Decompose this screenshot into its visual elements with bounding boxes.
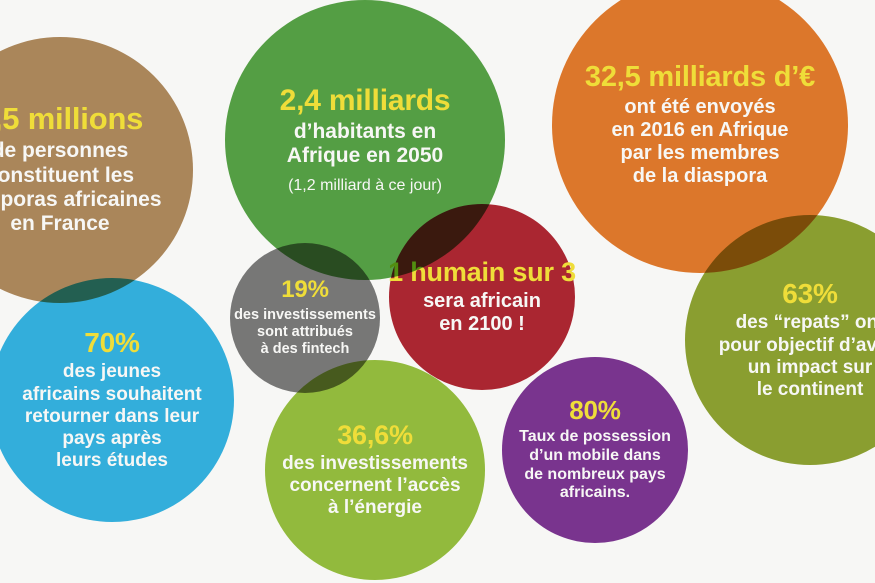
bubble-jeunes-retour[interactable]: 70% des jeunes africains souhaitent reto… bbox=[0, 278, 234, 522]
bubble-headline: 19% bbox=[281, 278, 328, 303]
bubble-mobile[interactable]: 80% Taux de possession d’un mobile dans … bbox=[502, 357, 688, 543]
bubble-headline: 80% bbox=[569, 397, 620, 424]
bubble-headline: 70% bbox=[84, 328, 139, 357]
bubble-humain-sur-3[interactable]: 1 humain sur 3 sera africain en 2100 ! bbox=[389, 204, 575, 390]
bubble-body: des investissements sont attribués à des… bbox=[234, 307, 376, 357]
bubble-diaspora-france[interactable]: 3,5 millions de personnes constituent le… bbox=[0, 37, 193, 303]
bubble-headline: 36,6% bbox=[337, 421, 413, 449]
bubble-headline: 2,4 milliards bbox=[280, 85, 451, 116]
bubble-headline: 3,5 millions bbox=[0, 103, 143, 135]
bubble-body: d’habitants en Afrique en 2050 bbox=[287, 120, 443, 169]
bubble-body: des investissements concernent l’accès à… bbox=[282, 453, 468, 519]
bubble-headline: 1 humain sur 3 bbox=[388, 258, 576, 286]
bubble-note: (1,2 milliard à ce jour) bbox=[288, 177, 442, 195]
bubble-body: ont été envoyés en 2016 en Afrique par l… bbox=[611, 96, 788, 189]
bubble-body: des “repats” ont pour objectif d’avoir u… bbox=[719, 312, 875, 400]
bubble-headline: 63% bbox=[782, 279, 837, 308]
bubble-body: des jeunes africains souhaitent retourne… bbox=[22, 361, 202, 471]
bubble-body: de personnes constituent les diasporas a… bbox=[0, 139, 162, 236]
bubble-body: Taux de possession d’un mobile dans de n… bbox=[519, 428, 671, 502]
bubble-energie[interactable]: 36,6% des investissements concernent l’a… bbox=[265, 360, 485, 580]
infographic-canvas: 3,5 millions de personnes constituent le… bbox=[0, 0, 875, 583]
bubble-headline: 32,5 milliards d’€ bbox=[585, 62, 815, 92]
bubble-body: sera africain en 2100 ! bbox=[423, 290, 541, 336]
